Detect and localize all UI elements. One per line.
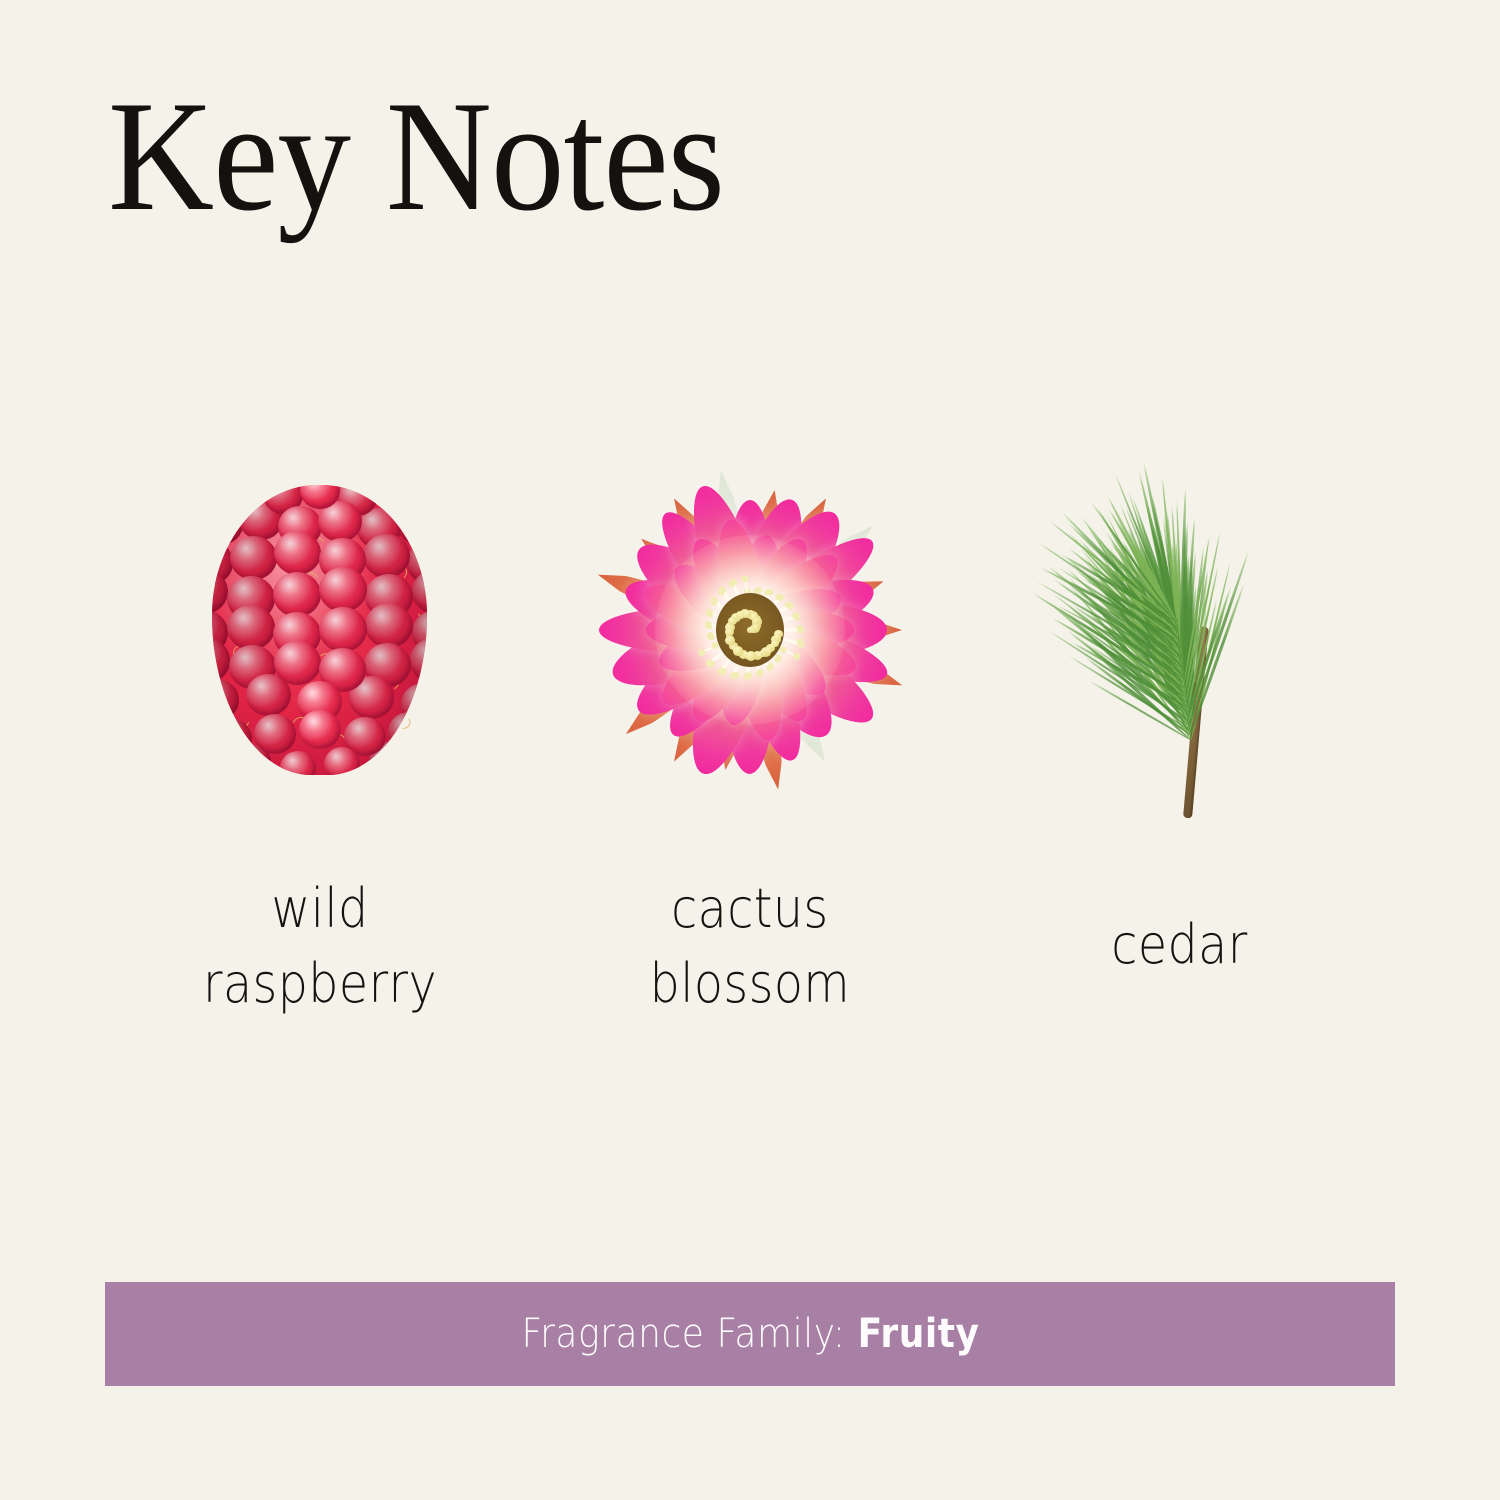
note-label-cedar: cedar	[1112, 908, 1248, 983]
fragrance-family-label: Fragrance Family:	[521, 1311, 857, 1357]
fragrance-family-text: Fragrance Family: Fruity	[521, 1311, 979, 1357]
cedar-illustration	[965, 430, 1395, 830]
cactus-blossom-icon	[585, 465, 915, 795]
note-item-cedar: cedar	[965, 430, 1395, 1070]
cedar-sprig-icon	[1065, 440, 1295, 820]
fragrance-family-value: Fruity	[857, 1311, 979, 1357]
note-label-wild-raspberry: wild raspberry	[203, 872, 437, 1021]
note-label-cactus-blossom: cactus blossom	[650, 872, 850, 1021]
fragrance-family-banner: Fragrance Family: Fruity	[105, 1282, 1395, 1386]
note-item-cactus-blossom: cactus blossom	[535, 430, 965, 1070]
raspberry-icon	[212, 485, 427, 775]
page-title: Key Notes	[108, 78, 724, 236]
raspberry-illustration	[105, 430, 535, 830]
cactus-blossom-illustration	[535, 430, 965, 830]
key-notes-row: wild raspberry cactus blossom cedar	[105, 430, 1395, 1070]
note-item-wild-raspberry: wild raspberry	[105, 430, 535, 1070]
